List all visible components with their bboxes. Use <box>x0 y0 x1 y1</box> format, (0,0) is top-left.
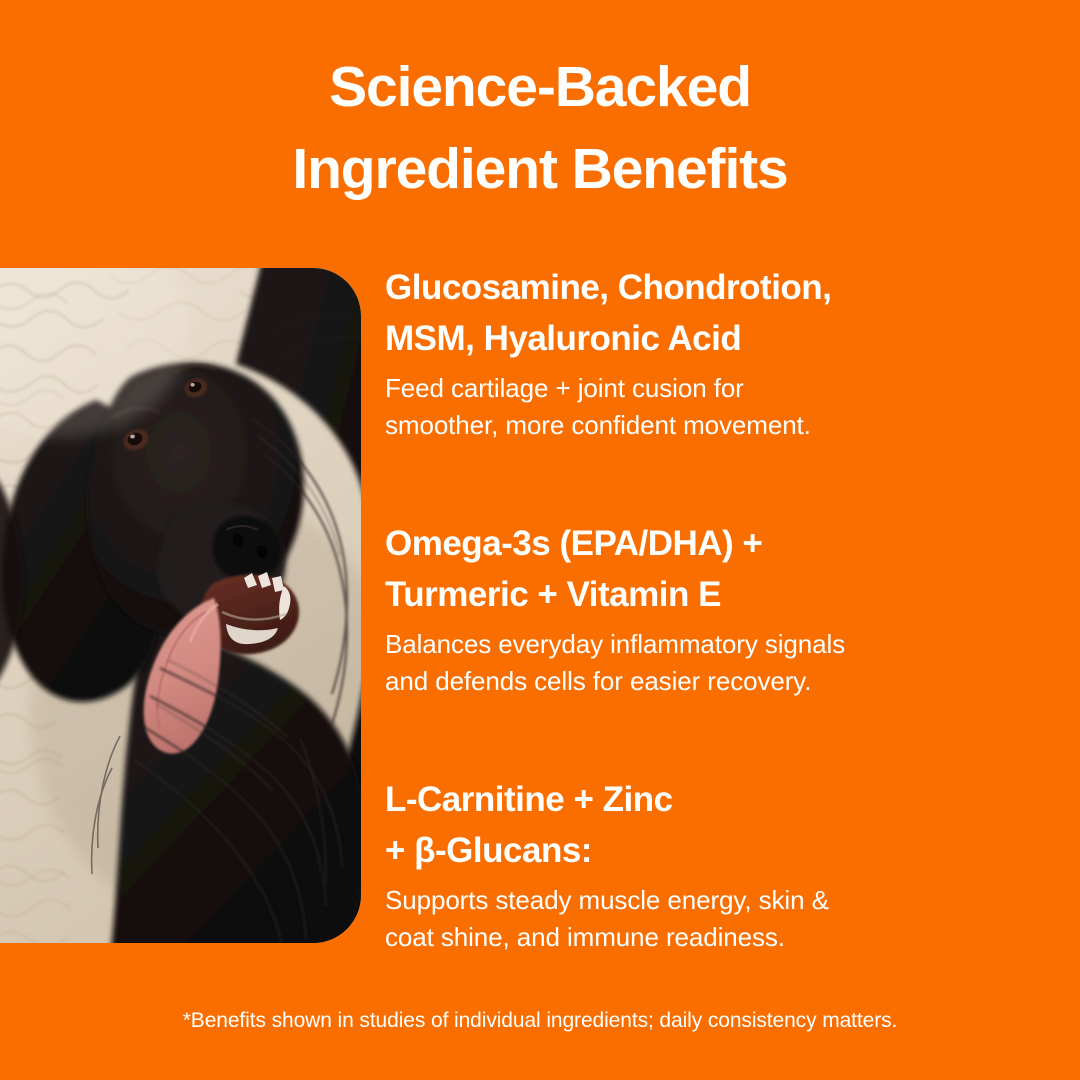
page-title-line-1: Science-Backed <box>0 46 1080 128</box>
benefit-body: Feed cartilage + joint cusion for smooth… <box>385 370 1005 444</box>
benefit-heading-line-2: Turmeric + Vitamin E <box>385 569 1005 620</box>
benefits-list: Glucosamine, Chondrotion, MSM, Hyaluroni… <box>385 262 1005 956</box>
benefit-heading: Glucosamine, Chondrotion, MSM, Hyaluroni… <box>385 262 1005 364</box>
benefit-heading: Omega-3s (EPA/DHA) + Turmeric + Vitamin … <box>385 518 1005 620</box>
footnote: *Benefits shown in studies of individual… <box>0 1006 1080 1036</box>
benefit-body: Balances everyday inflammatory signals a… <box>385 626 1005 700</box>
benefit-body-line-1: Supports steady muscle energy, skin & <box>385 882 1005 919</box>
benefit-heading-line-1: Glucosamine, Chondrotion, <box>385 262 1005 313</box>
page-title-line-2: Ingredient Benefits <box>0 128 1080 210</box>
benefit-body-line-1: Balances everyday inflammatory signals <box>385 626 1005 663</box>
benefit-body-line-1: Feed cartilage + joint cusion for <box>385 370 1005 407</box>
benefit-item: Omega-3s (EPA/DHA) + Turmeric + Vitamin … <box>385 518 1005 700</box>
dog-photo <box>0 268 361 943</box>
benefit-body-line-2: and defends cells for easier recovery. <box>385 663 1005 700</box>
benefit-heading-line-2: + β-Glucans: <box>385 825 1005 876</box>
benefit-body-line-2: coat shine, and immune readiness. <box>385 919 1005 956</box>
benefit-body: Supports steady muscle energy, skin & co… <box>385 882 1005 956</box>
benefit-heading-line-2: MSM, Hyaluronic Acid <box>385 313 1005 364</box>
benefit-heading: L-Carnitine + Zinc + β-Glucans: <box>385 774 1005 876</box>
benefit-body-line-2: smoother, more confident movement. <box>385 407 1005 444</box>
dog-photo-illustration <box>0 268 361 943</box>
benefit-item: L-Carnitine + Zinc + β-Glucans: Supports… <box>385 774 1005 956</box>
page-title: Science-Backed Ingredient Benefits <box>0 46 1080 210</box>
benefit-heading-line-1: Omega-3s (EPA/DHA) + <box>385 518 1005 569</box>
benefit-heading-line-1: L-Carnitine + Zinc <box>385 774 1005 825</box>
infographic-canvas: Science-Backed Ingredient Benefits <box>0 0 1080 1080</box>
benefit-item: Glucosamine, Chondrotion, MSM, Hyaluroni… <box>385 262 1005 444</box>
